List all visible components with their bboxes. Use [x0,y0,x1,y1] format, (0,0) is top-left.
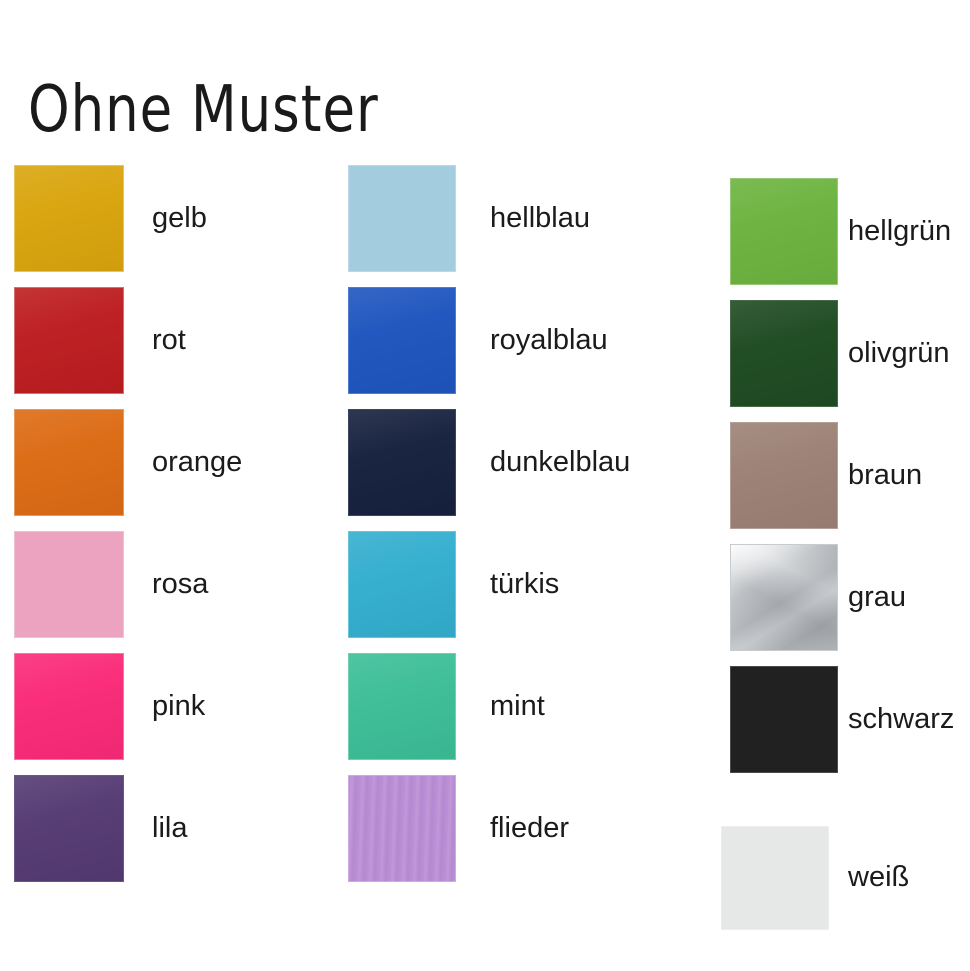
color-swatch-schwarz[interactable] [730,666,838,773]
swatch-label-lila: lila [152,814,187,843]
color-swatch-flieder[interactable] [348,775,456,882]
color-swatch-grau[interactable] [730,544,838,651]
color-swatch-rosa[interactable] [14,531,124,638]
swatch-label-türkis: türkis [490,570,559,599]
color-swatch-gelb[interactable] [14,165,124,272]
color-swatch-dunkelblau[interactable] [348,409,456,516]
swatch-label-hellblau: hellblau [490,204,590,233]
color-swatch-türkis[interactable] [348,531,456,638]
color-swatch-orange[interactable] [14,409,124,516]
swatch-label-pink: pink [152,692,205,721]
color-swatch-braun[interactable] [730,422,838,529]
swatch-label-mint: mint [490,692,545,721]
color-swatch-weiß[interactable] [721,826,829,930]
color-swatch-mint[interactable] [348,653,456,760]
swatch-label-schwarz: schwarz [848,705,954,734]
color-swatch-hellgrün[interactable] [730,178,838,285]
color-swatch-pink[interactable] [14,653,124,760]
swatch-label-flieder: flieder [490,814,569,843]
swatch-label-olivgrün: olivgrün [848,339,950,368]
swatch-label-grau: grau [848,583,906,612]
swatch-label-royalblau: royalblau [490,326,608,355]
color-swatch-olivgrün[interactable] [730,300,838,407]
swatch-label-weiß: weiß [848,863,909,892]
color-swatch-rot[interactable] [14,287,124,394]
swatch-label-orange: orange [152,448,242,477]
color-swatch-lila[interactable] [14,775,124,882]
color-chart-page: Ohne Muster gelbrotorangerosapinklilahel… [0,0,970,971]
swatch-label-rot: rot [152,326,186,355]
color-swatch-hellblau[interactable] [348,165,456,272]
swatch-label-gelb: gelb [152,204,207,233]
page-title: Ohne Muster [28,72,379,146]
swatch-label-dunkelblau: dunkelblau [490,448,630,477]
swatch-label-hellgrün: hellgrün [848,217,951,246]
swatch-label-braun: braun [848,461,922,490]
swatch-label-rosa: rosa [152,570,208,599]
color-swatch-royalblau[interactable] [348,287,456,394]
